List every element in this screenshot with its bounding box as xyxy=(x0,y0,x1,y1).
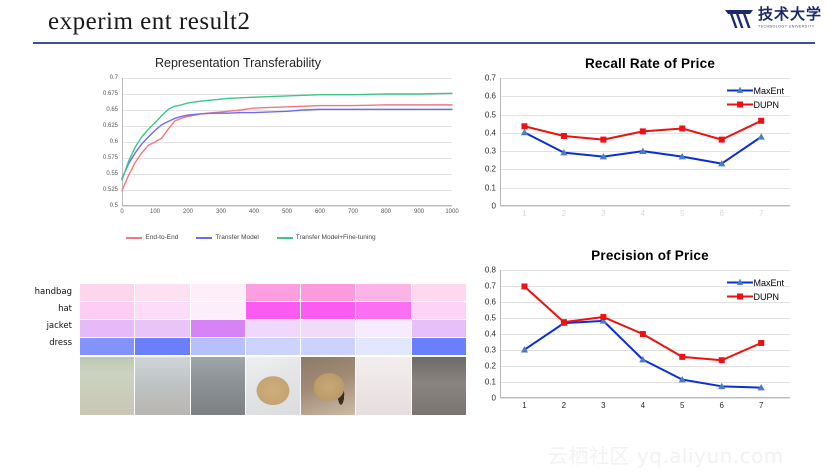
y-axis-tick-label: 0.625 xyxy=(103,123,118,129)
chart-title: Representation Transferability xyxy=(38,56,438,70)
y-axis-tick-label: 0.575 xyxy=(103,155,118,161)
heatmap-cell xyxy=(135,320,189,337)
page-title: experim ent result2 xyxy=(48,8,251,36)
photo-thumbnail-denim-jacket-white-skirt xyxy=(191,357,245,415)
legend-label: Transfer Model xyxy=(215,234,258,241)
x-axis-tick-label: 1000 xyxy=(445,209,458,215)
heatmap-cell xyxy=(301,320,355,337)
heatmap-cell xyxy=(246,302,300,319)
data-point-marker xyxy=(758,133,765,139)
data-point-marker xyxy=(758,340,764,346)
heatmap-cell xyxy=(356,302,410,319)
y-axis-tick-label: 0.525 xyxy=(103,187,118,193)
x-axis-tick-label: 300 xyxy=(216,209,226,215)
x-axis-tick-label: 800 xyxy=(381,209,391,215)
y-axis-tick-label: 0.4 xyxy=(485,330,496,339)
x-axis-tick-label: 0 xyxy=(120,209,123,215)
heatmap-cell xyxy=(246,284,300,301)
photo-thumbnail-straw-hat-closeup xyxy=(301,357,355,415)
y-axis-tick-label: 0.5 xyxy=(485,110,496,119)
chart-representation-transferability: Representation Transferability 0.50.5250… xyxy=(38,56,438,256)
legend-item: Transfer Model xyxy=(196,234,258,241)
data-point-marker xyxy=(521,283,527,289)
x-axis-tick-label: 200 xyxy=(183,209,193,215)
y-axis-tick-label: 0.55 xyxy=(106,171,118,177)
x-axis-tick-label: 700 xyxy=(348,209,358,215)
plot-area: 0.50.5250.550.5750.60.6250.650.6750.7010… xyxy=(122,78,452,206)
x-axis-tick-label: 900 xyxy=(414,209,424,215)
x-axis-tick-label: 4 xyxy=(641,401,645,410)
data-point-marker xyxy=(521,123,527,129)
y-axis-tick-label: 0.2 xyxy=(485,362,496,371)
x-axis-tick-label: 500 xyxy=(282,209,292,215)
university-logo: 技术大学 TECHNOLOGY UNIVERSITY xyxy=(724,7,822,29)
heatmap-row-label: jacket xyxy=(18,318,78,335)
legend-label: Transfer Model+Fine-tuning xyxy=(296,234,376,241)
heatmap-grid xyxy=(80,284,466,355)
plot-area: MaxEnt DUPN 00.10.20.30.40.50.60.7123456… xyxy=(500,78,790,206)
y-axis-tick-label: 0.3 xyxy=(485,346,496,355)
logo-mark-icon xyxy=(724,7,754,29)
legend-label: End-to-End xyxy=(145,234,178,241)
gridline xyxy=(122,206,452,207)
data-point-marker xyxy=(719,357,725,363)
heatmap-cell xyxy=(412,284,466,301)
y-axis-tick-label: 0.675 xyxy=(103,91,118,97)
heatmap-cell xyxy=(80,284,134,301)
attribute-attention-heatmap: handbag hat jacket dress xyxy=(18,284,448,424)
y-axis-tick-label: 0 xyxy=(492,202,496,211)
y-axis-tick-label: 0.5 xyxy=(485,314,496,323)
gridline xyxy=(500,206,790,207)
chart-recall-rate-of-price: Recall Rate of Price MaxEnt DUPN 00.10.2… xyxy=(462,56,838,236)
data-point-marker xyxy=(679,354,685,360)
photo-thumbnail-straw-sun-hat xyxy=(246,357,300,415)
legend-item: End-to-End xyxy=(126,234,178,241)
chart-legend: End-to-End Transfer Model Transfer Model… xyxy=(86,234,416,241)
heatmap-row-labels: handbag hat jacket dress xyxy=(18,284,78,352)
heatmap-cell xyxy=(412,338,466,355)
heatmap-cell xyxy=(80,320,134,337)
x-axis-tick-label: 7 xyxy=(759,401,763,410)
data-point-marker xyxy=(719,137,725,143)
series-line xyxy=(122,109,452,178)
x-axis-tick-label: 100 xyxy=(150,209,160,215)
series-line xyxy=(524,286,761,360)
x-axis-tick-label: 2 xyxy=(562,401,566,410)
heatmap-cell xyxy=(356,338,410,355)
data-point-marker xyxy=(561,133,567,139)
data-point-marker xyxy=(521,129,528,135)
heatmap-cell xyxy=(356,284,410,301)
data-point-marker xyxy=(758,118,764,124)
slide-header: experim ent result2 技术大学 TECHNOLOGY UNIV… xyxy=(0,0,840,46)
heatmap-cell xyxy=(191,320,245,337)
logo-name-cn: 技术大学 xyxy=(758,7,822,22)
data-point-marker xyxy=(600,314,606,320)
heatmap-cell xyxy=(301,338,355,355)
photo-subject xyxy=(356,357,410,415)
x-axis-tick-label: 600 xyxy=(315,209,325,215)
photo-thumbnail-white-lace-dress xyxy=(412,357,466,415)
y-axis-tick-label: 0.6 xyxy=(485,298,496,307)
photo-subject xyxy=(412,357,466,415)
heatmap-cell xyxy=(135,302,189,319)
y-axis-tick-label: 0.7 xyxy=(485,282,496,291)
x-axis-tick-label: 1 xyxy=(522,401,526,410)
heatmap-row-label: handbag xyxy=(18,284,78,301)
header-divider xyxy=(33,42,815,44)
heatmap-cell xyxy=(191,338,245,355)
photo-strip xyxy=(80,357,466,415)
x-axis-tick-label: 5 xyxy=(680,401,684,410)
data-point-marker xyxy=(640,331,646,337)
chart-title: Precision of Price xyxy=(462,248,838,263)
heatmap-cell xyxy=(80,338,134,355)
heatmap-cell xyxy=(412,320,466,337)
photo-thumbnail-pink-dress-street xyxy=(80,357,134,415)
heatmap-cell xyxy=(412,302,466,319)
photo-thumbnail-beige-lace-dress xyxy=(135,357,189,415)
y-axis-tick-label: 0.4 xyxy=(485,128,496,137)
x-axis-tick-label: 3 xyxy=(601,401,605,410)
y-axis-tick-label: 0.6 xyxy=(110,139,118,145)
heatmap-row-label: hat xyxy=(18,301,78,318)
data-point-marker xyxy=(679,125,685,131)
heatmap-cell xyxy=(80,302,134,319)
series-layer xyxy=(500,78,790,206)
chart-precision-of-price: Precision of Price MaxEnt DUPN 00.10.20.… xyxy=(462,248,838,433)
series-layer xyxy=(122,78,452,206)
legend-color-swatch xyxy=(277,237,293,239)
x-axis-tick-label: 400 xyxy=(249,209,259,215)
photo-subject xyxy=(135,357,189,415)
photo-subject xyxy=(80,357,134,415)
chart-title: Recall Rate of Price xyxy=(462,56,838,71)
x-axis-tick-label: 3 xyxy=(601,209,605,218)
legend-color-swatch xyxy=(196,237,212,239)
y-axis-tick-label: 0.1 xyxy=(485,183,496,192)
data-point-marker xyxy=(600,137,606,143)
plot-area: MaxEnt DUPN 00.10.20.30.40.50.60.70.8123… xyxy=(500,270,790,398)
heatmap-cell xyxy=(135,284,189,301)
heatmap-cell xyxy=(301,284,355,301)
y-axis-tick-label: 0.8 xyxy=(485,266,496,275)
y-axis-tick-label: 0.7 xyxy=(110,75,118,81)
x-axis-tick-label: 7 xyxy=(759,209,763,218)
y-axis-tick-label: 0.7 xyxy=(485,74,496,83)
x-axis-tick-label: 5 xyxy=(680,209,684,218)
heatmap-cell xyxy=(135,338,189,355)
heatmap-row-label: dress xyxy=(18,335,78,352)
photo-thumbnail-floral-umbrella xyxy=(356,357,410,415)
heatmap-cell xyxy=(301,302,355,319)
heatmap-cell xyxy=(191,302,245,319)
x-axis-tick-label: 4 xyxy=(641,209,645,218)
x-axis-tick-label: 2 xyxy=(562,209,566,218)
legend-color-swatch xyxy=(126,237,142,239)
y-axis-tick-label: 0.6 xyxy=(485,92,496,101)
x-axis-tick-label: 1 xyxy=(522,209,526,218)
heatmap-cell xyxy=(356,320,410,337)
y-axis-tick-label: 0.2 xyxy=(485,165,496,174)
heatmap-cell xyxy=(191,284,245,301)
x-axis-tick-label: 6 xyxy=(720,209,724,218)
series-layer xyxy=(500,270,790,398)
x-axis-tick-label: 6 xyxy=(720,401,724,410)
heatmap-cell xyxy=(246,338,300,355)
y-axis-tick-label: 0 xyxy=(492,394,496,403)
y-axis-tick-label: 0.3 xyxy=(485,147,496,156)
y-axis-tick-label: 0.5 xyxy=(110,203,118,209)
photo-subject xyxy=(246,357,300,415)
data-point-marker xyxy=(561,319,567,325)
heatmap-cell xyxy=(246,320,300,337)
watermark: 云栖社区 yq.aliyun.com xyxy=(548,440,784,469)
logo-name-en: TECHNOLOGY UNIVERSITY xyxy=(758,24,815,29)
gridline xyxy=(500,398,790,399)
photo-subject xyxy=(301,357,355,415)
y-axis-tick-label: 0.1 xyxy=(485,378,496,387)
y-axis-tick-label: 0.65 xyxy=(106,107,118,113)
series-line xyxy=(524,321,761,388)
legend-item: Transfer Model+Fine-tuning xyxy=(277,234,376,241)
photo-subject xyxy=(191,357,245,415)
series-line xyxy=(122,105,452,191)
data-point-marker xyxy=(640,128,646,134)
